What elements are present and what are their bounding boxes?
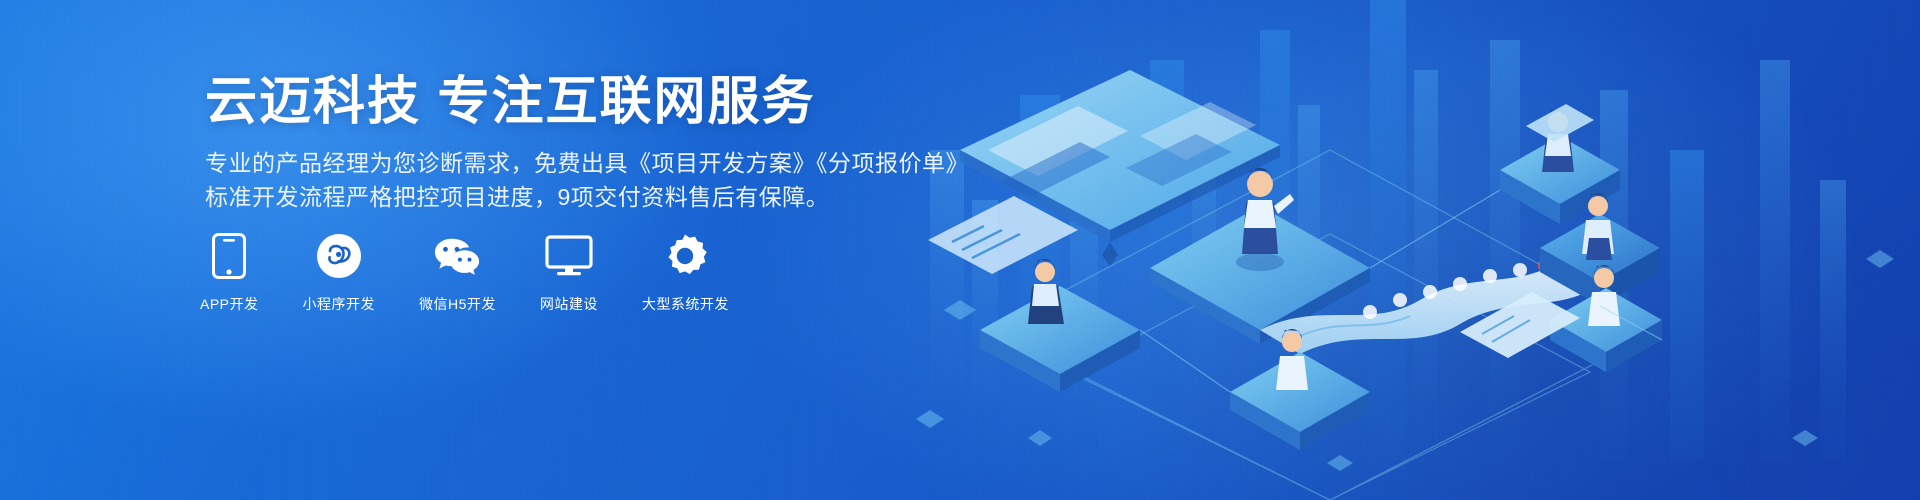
- service-item-miniprogram[interactable]: 小程序开发: [303, 232, 376, 314]
- service-label: 大型系统开发: [642, 294, 729, 314]
- wechat-icon: [433, 232, 481, 280]
- subtitle-line-1: 专业的产品经理为您诊断需求，免费出具《项目开发方案》《分项报价单》: [205, 146, 969, 181]
- gear-icon: [661, 232, 709, 280]
- smartphone-icon: [205, 232, 253, 280]
- service-item-wechat[interactable]: 微信H5开发: [419, 232, 496, 314]
- subtitle-line-2: 标准开发流程严格把控项目进度，9项交付资料售后有保障。: [205, 180, 829, 215]
- page-title: 云迈科技 专注互联网服务: [205, 72, 815, 133]
- mini-program-icon: [315, 232, 363, 280]
- illustration-container: [900, 0, 1920, 500]
- floating-tag: [1526, 104, 1594, 142]
- service-label: APP开发: [200, 294, 259, 314]
- service-label: 微信H5开发: [419, 294, 496, 314]
- banner-content: 云迈科技 专注互联网服务 专业的产品经理为您诊断需求，免费出具《项目开发方案》《…: [0, 0, 960, 500]
- service-label: 网站建设: [540, 294, 598, 314]
- monitor-icon: [545, 232, 593, 280]
- service-item-website[interactable]: 网站建设: [540, 232, 598, 314]
- service-item-system[interactable]: 大型系统开发: [642, 232, 729, 314]
- service-item-app[interactable]: APP开发: [200, 232, 259, 314]
- service-list: APP开发 小程序开发: [200, 232, 729, 314]
- service-label: 小程序开发: [303, 294, 376, 314]
- hero-banner: 云迈科技 专注互联网服务 专业的产品经理为您诊断需求，免费出具《项目开发方案》《…: [0, 0, 1920, 500]
